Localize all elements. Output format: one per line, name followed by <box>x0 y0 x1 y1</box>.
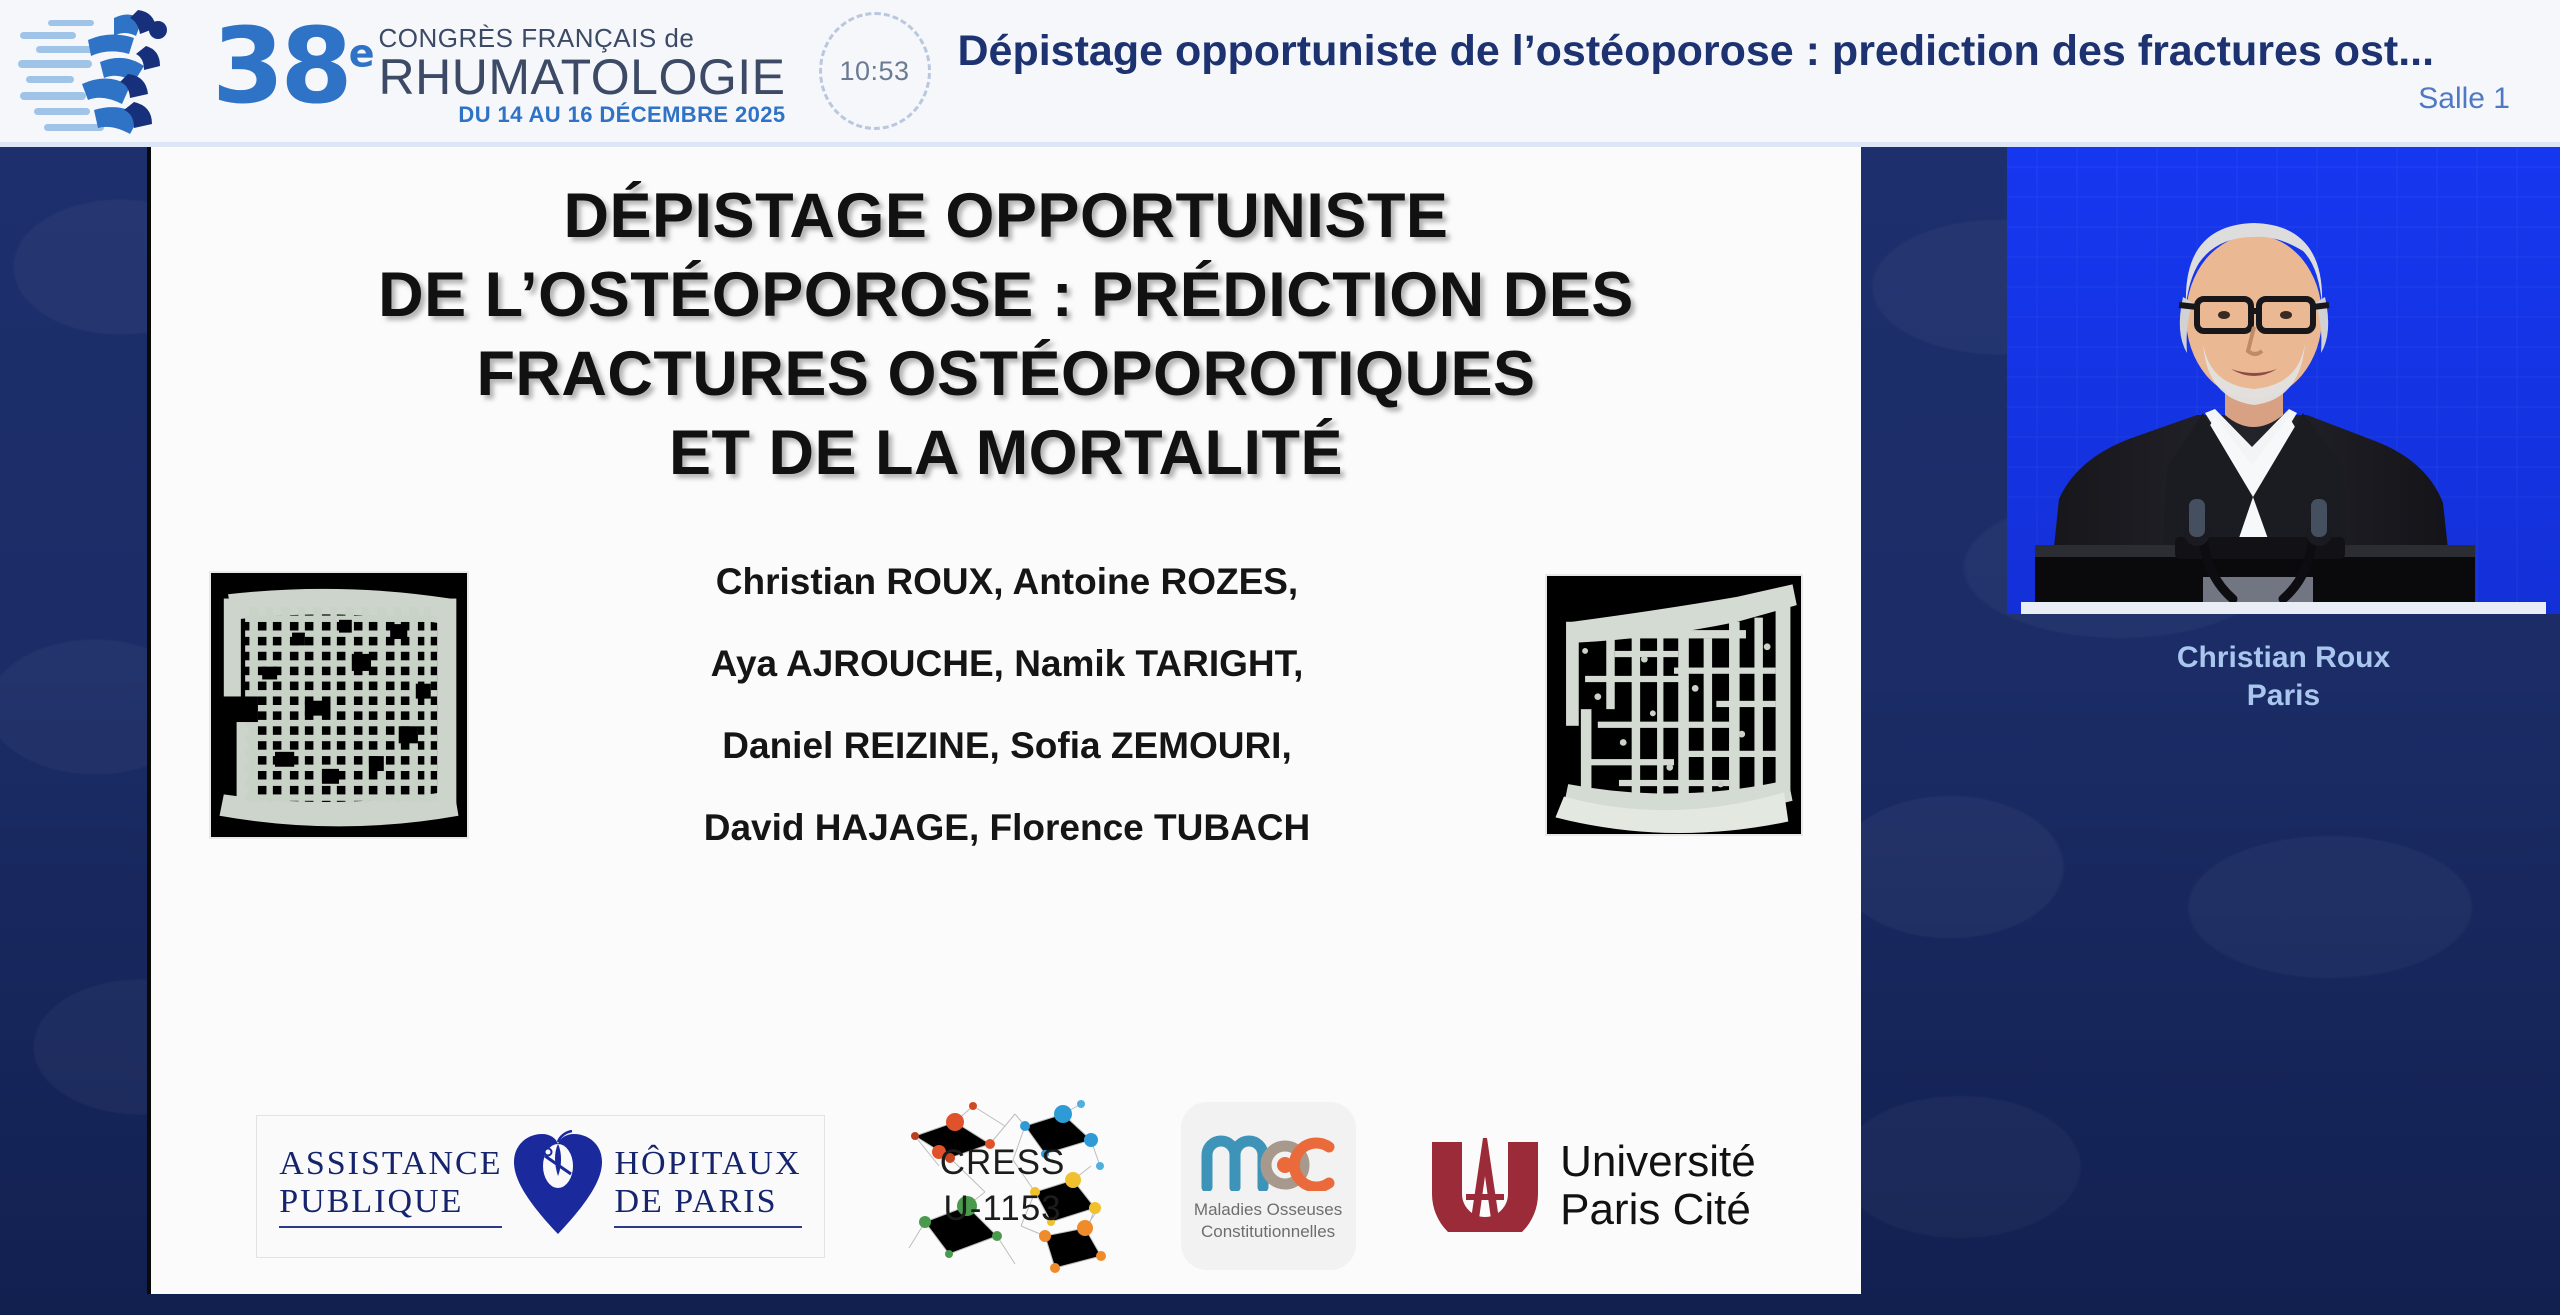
aphp-left-text: ASSISTANCE PUBLIQUE <box>279 1145 502 1228</box>
slide-title: DÉPISTAGE OPPORTUNISTE DE L’OSTÉOPOROSE … <box>378 177 1634 493</box>
moc-subtitle: Maladies Osseuses Constitutionnelles <box>1194 1199 1342 1243</box>
slide-title-line-3: FRACTURES OSTÉOPOROTIQUES <box>378 335 1634 414</box>
speaker-video[interactable] <box>2007 147 2560 614</box>
congress-number-value: 38 <box>212 5 349 127</box>
moc-logo: Maladies Osseuses Constitutionnelles <box>1181 1102 1356 1270</box>
session-room: Salle 1 <box>958 82 2521 116</box>
congress-ordinal: e <box>349 31 375 75</box>
stage-area: DÉPISTAGE OPPORTUNISTE DE L’OSTÉOPOROSE … <box>0 147 2560 1315</box>
moc-sub-line2: Constitutionnelles <box>1194 1221 1342 1243</box>
cress-line1: CRESS <box>940 1140 1066 1186</box>
slide-body: Christian ROUX, Antoine ROZES, Aya AJROU… <box>191 541 1821 869</box>
running-man-icon <box>18 6 206 136</box>
normal-bone-image <box>209 571 469 839</box>
session-title-block: Dépistage opportuniste de l’ostéoporose … <box>934 26 2560 116</box>
aphp-line2: PUBLIQUE <box>279 1183 502 1221</box>
u-eiffel-tower-icon <box>1426 1136 1544 1237</box>
speaker-city: Paris <box>2007 677 2560 715</box>
slide-authors: Christian ROUX, Antoine ROZES, Aya AJROU… <box>469 541 1545 869</box>
upc-line1: Université <box>1560 1138 1756 1186</box>
speaker-name: Christian Roux <box>2007 639 2560 677</box>
author-line-2: Aya AJROUCHE, Namik TARIGHT, <box>485 623 1529 705</box>
moc-wordmark <box>1201 1129 1335 1191</box>
slide-title-line-4: ET DE LA MORTALITÉ <box>378 414 1634 493</box>
aphp-line1: ASSISTANCE <box>279 1145 502 1183</box>
aphp-line4: DE PARIS <box>614 1183 801 1221</box>
congress-logo: 38e CONGRÈS FRANÇAIS de RHUMATOLOGIE DU … <box>0 0 786 145</box>
aphp-rule-left <box>279 1226 502 1228</box>
congress-number: 38e <box>212 18 375 114</box>
session-timer-value: 10:53 <box>819 12 931 130</box>
slide-title-line-1: DÉPISTAGE OPPORTUNISTE <box>378 177 1634 256</box>
upc-text: Université Paris Cité <box>1560 1138 1756 1234</box>
session-timer[interactable]: 10:53 <box>816 12 934 130</box>
aphp-rule-right <box>614 1226 801 1228</box>
author-line-4: David HAJAGE, Florence TUBACH <box>485 787 1529 869</box>
aphp-line3: HÔPITAUX <box>614 1145 801 1183</box>
congress-dates: DU 14 AU 16 DÉCEMBRE 2025 <box>379 102 786 128</box>
speaker-caption: Christian Roux Paris <box>2007 639 2560 715</box>
session-title: Dépistage opportuniste de l’ostéoporose … <box>958 26 2521 76</box>
congress-wordmark: 38e CONGRÈS FRANÇAIS de RHUMATOLOGIE DU … <box>212 14 786 128</box>
author-line-1: Christian ROUX, Antoine ROZES, <box>485 541 1529 623</box>
broadcast-page: 38e CONGRÈS FRANÇAIS de RHUMATOLOGIE DU … <box>0 0 2560 1315</box>
upc-line2: Paris Cité <box>1560 1186 1756 1234</box>
speaker-panel: Christian Roux Paris <box>2007 147 2560 1315</box>
osteoporotic-bone-image <box>1545 574 1803 836</box>
page-header: 38e CONGRÈS FRANÇAIS de RHUMATOLOGIE DU … <box>0 0 2560 147</box>
slide-title-line-2: DE L’OSTÉOPOROSE : PRÉDICTION DES <box>378 256 1634 335</box>
sponsor-logos: ASSISTANCE PUBLIQUE <box>191 1096 1821 1276</box>
congress-line1: CONGRÈS FRANÇAIS de <box>379 24 786 52</box>
presentation-slide[interactable]: DÉPISTAGE OPPORTUNISTE DE L’OSTÉOPOROSE … <box>147 147 1861 1294</box>
moc-sub-line1: Maladies Osseuses <box>1194 1199 1342 1221</box>
cress-logo: CRESS U-1153 <box>895 1096 1110 1276</box>
author-line-3: Daniel REIZINE, Sofia ZEMOURI, <box>485 705 1529 787</box>
video-bottom-strip <box>2021 602 2546 614</box>
aphp-right-text: HÔPITAUX DE PARIS <box>614 1145 801 1228</box>
aphp-heart-leaf-icon <box>512 1130 604 1243</box>
cress-line2: U-1153 <box>943 1186 1061 1232</box>
aphp-logo: ASSISTANCE PUBLIQUE <box>256 1115 824 1258</box>
universite-paris-cite-logo: Université Paris Cité <box>1426 1136 1756 1237</box>
congress-line2: RHUMATOLOGIE <box>379 52 786 102</box>
